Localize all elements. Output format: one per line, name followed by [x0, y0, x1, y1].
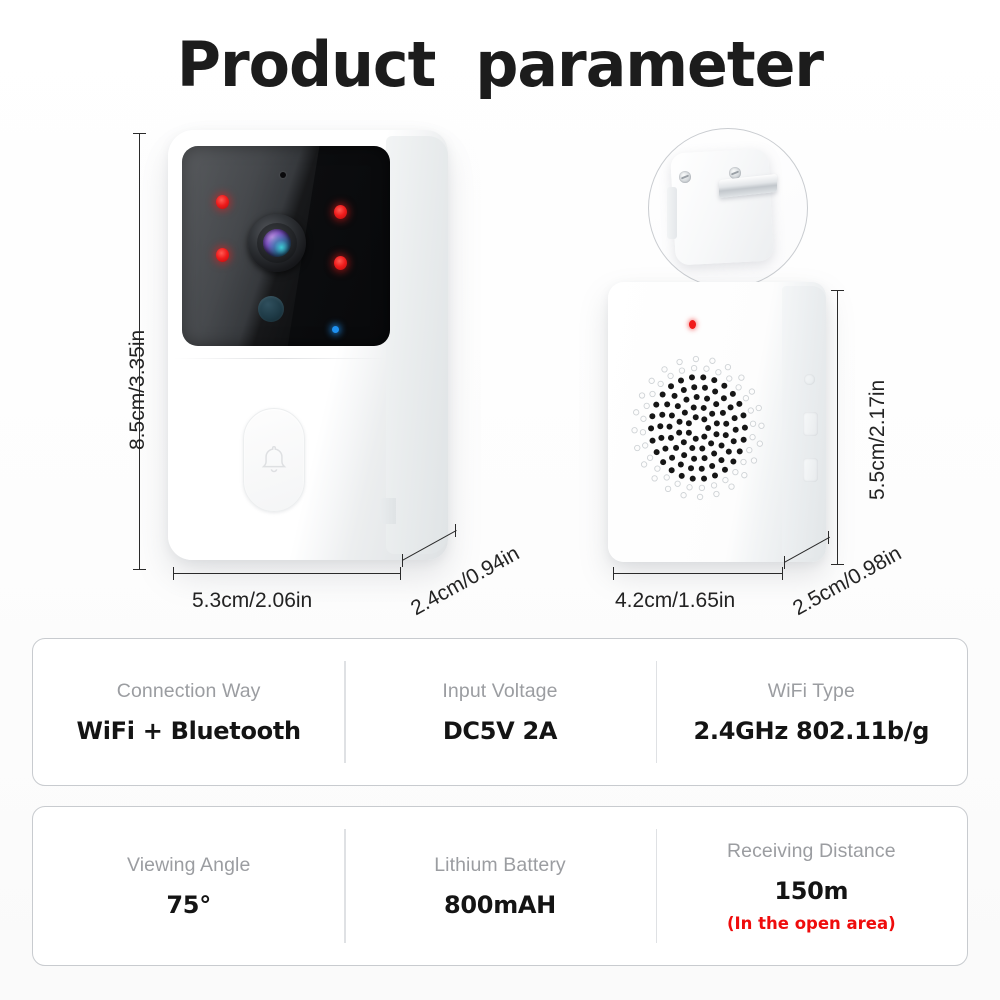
doorbell-side-face [386, 136, 448, 554]
spec-value: DC5V 2A [443, 717, 557, 745]
wireless-chime-product [608, 282, 826, 562]
dimension-cap [831, 564, 844, 565]
ir-led-icon [216, 195, 229, 209]
ir-led-icon [334, 256, 347, 270]
doorbell-camera-panel [182, 146, 390, 346]
product-parameter-page: Product parameter [0, 0, 1000, 1000]
spec-cell-lithium-battery: Lithium Battery 800mAH [344, 807, 655, 965]
spec-value: 2.4GHz 802.11b/g [694, 717, 930, 745]
doorbell-bell-button[interactable] [243, 408, 305, 512]
spec-label: WiFi Type [768, 680, 855, 703]
spec-label: Connection Way [117, 680, 261, 703]
doorbell-seam-line [174, 358, 386, 359]
screw-icon [679, 171, 691, 183]
camera-lens-icon [248, 214, 306, 272]
bell-icon [257, 443, 291, 477]
spec-cell-connection-way: Connection Way WiFi + Bluetooth [33, 639, 344, 785]
ir-led-icon [216, 248, 229, 262]
power-led-icon [689, 320, 696, 329]
dimension-cap [133, 133, 146, 134]
doorbell-width-dimension-line [173, 573, 401, 574]
spec-value: 800mAH [444, 891, 556, 919]
chime-width-label: 4.2cm/1.65in [615, 589, 735, 613]
lens-glass [263, 229, 291, 257]
dimension-cap [173, 567, 174, 580]
doorbell-width-label: 5.3cm/2.06in [192, 589, 312, 613]
spec-value: 75° [166, 891, 211, 919]
chime-width-dimension-line [613, 573, 783, 574]
ir-led-icon [334, 205, 347, 219]
spec-row-2: Viewing Angle 75° Lithium Battery 800mAH… [32, 806, 968, 966]
dimension-cap [455, 524, 456, 537]
spec-note: (In the open area) [727, 914, 896, 933]
chime-height-dimension-line [837, 290, 838, 565]
spec-cell-wifi-type: WiFi Type 2.4GHz 802.11b/g [656, 639, 967, 785]
spec-cell-input-voltage: Input Voltage DC5V 2A [344, 639, 655, 785]
spec-row-1: Connection Way WiFi + Bluetooth Input Vo… [32, 638, 968, 786]
plug-back-housing [670, 149, 774, 266]
status-led-icon [332, 326, 339, 333]
spec-label: Input Voltage [442, 680, 557, 703]
chime-button[interactable] [803, 412, 818, 436]
plug-housing-edge [667, 187, 677, 239]
speaker-grille-icon [624, 346, 772, 510]
product-illustration-stage: 8.5cm/3.35in 5.3cm/2.06in 2.4cm/0.94in [0, 0, 1000, 630]
pir-sensor-icon [258, 296, 284, 322]
spec-label: Viewing Angle [127, 854, 250, 877]
doorbell-mount-notch [380, 498, 396, 524]
spec-value: WiFi + Bluetooth [77, 717, 301, 745]
dimension-cap [400, 567, 401, 580]
microphone-hole-icon [280, 172, 286, 178]
spec-cell-viewing-angle: Viewing Angle 75° [33, 807, 344, 965]
chime-button[interactable] [803, 458, 818, 482]
dimension-cap [613, 567, 614, 580]
video-doorbell-product [168, 130, 448, 560]
doorbell-height-label: 8.5cm/3.35in [126, 330, 150, 450]
chime-height-label: 5.5cm/2.17in [866, 380, 890, 500]
dimension-cap [133, 569, 146, 570]
dimension-cap [828, 531, 829, 544]
spec-value: 150m [774, 877, 848, 905]
spec-label: Receiving Distance [727, 840, 896, 863]
spec-cell-receiving-distance: Receiving Distance 150m (In the open are… [656, 807, 967, 965]
lens-ring [257, 223, 297, 263]
wall-plug-closeup-inset [648, 128, 808, 288]
chime-volume-knob[interactable] [804, 374, 815, 385]
spec-label: Lithium Battery [434, 854, 566, 877]
dimension-cap [831, 290, 844, 291]
dimension-cap [784, 556, 785, 569]
dimension-cap [402, 554, 403, 567]
